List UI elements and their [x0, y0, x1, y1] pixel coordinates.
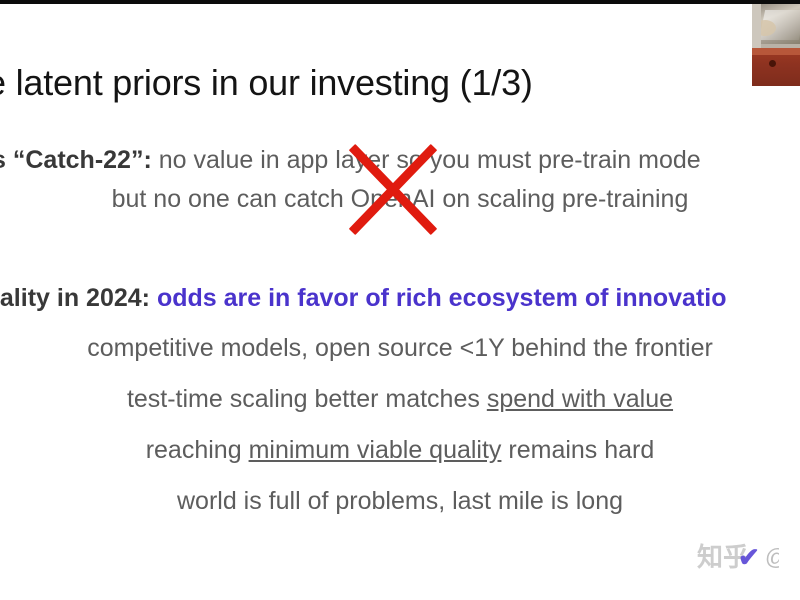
zhihu-watermark: 知乎 ✔ @: [697, 540, 779, 574]
reality-accent-text: odds are in favor of rich ecosystem of i…: [157, 284, 727, 312]
bullet-minimum-viable-quality: reaching minimum viable quality remains …: [0, 436, 800, 465]
zhihu-logo-icon: ✔: [738, 544, 760, 570]
bullet-competitive-models: competitive models, open source <1Y behi…: [0, 334, 800, 363]
top-letterbox-bar: [0, 0, 800, 4]
mvq-text-post: remains hard: [501, 436, 654, 464]
slide-title: e latent priors in our investing (1/3): [0, 62, 800, 104]
webcam-desk-edge: [752, 48, 800, 55]
testtime-text: test-time scaling better matches: [127, 385, 487, 413]
catch22-label: ’s “Catch-22”:: [0, 146, 152, 174]
webcam-wall: [752, 4, 761, 54]
bullet-test-time-scaling: test-time scaling better matches spend w…: [0, 385, 800, 414]
watermark-at-icon: @: [765, 546, 779, 569]
bullet-catch22-continued: but no one can catch OpenAI on scaling p…: [0, 185, 800, 214]
slide-canvas: e latent priors in our investing (1/3) ’…: [0, 0, 800, 600]
mvq-text-pre: reaching: [146, 436, 249, 464]
bullet-last-mile: world is full of problems, last mile is …: [0, 487, 800, 516]
catch22-text: no value in app layer so you must pre-tr…: [152, 146, 701, 174]
bullet-reality-2024: eality in 2024: odds are in favor of ric…: [0, 284, 800, 313]
bullet-catch22: ’s “Catch-22”: no value in app layer so …: [0, 146, 800, 175]
reality-label: eality in 2024:: [0, 284, 157, 312]
mvq-emphasis: minimum viable quality: [249, 436, 502, 464]
testtime-emphasis: spend with value: [487, 385, 673, 413]
